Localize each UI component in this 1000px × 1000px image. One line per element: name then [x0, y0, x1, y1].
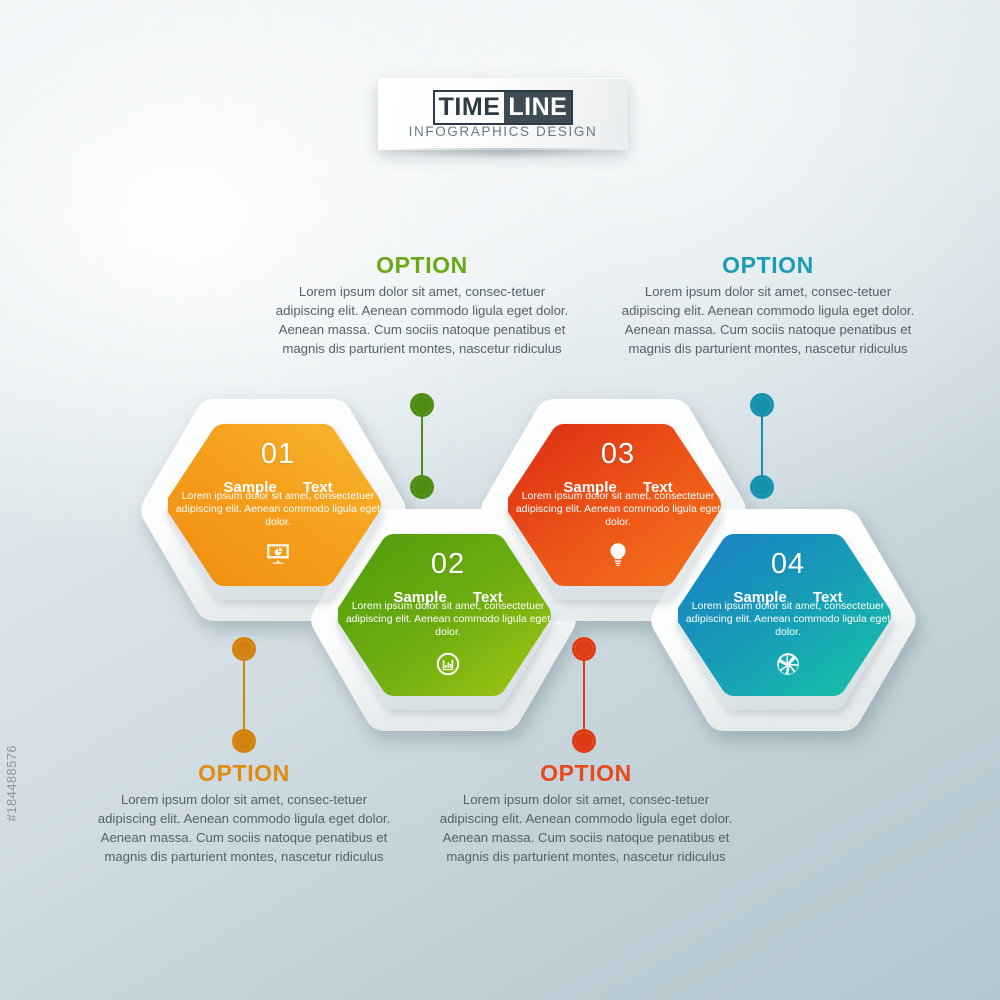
infographic-canvas: TIMELINE INFOGRAPHICS DESIGN: [0, 0, 1000, 1000]
option-label-bottom-left: OPTION: [94, 760, 394, 787]
camera-aperture-icon: [678, 651, 898, 682]
connector-red: [572, 637, 596, 753]
connector-green-dot-top[interactable]: [410, 393, 434, 417]
step-body-04: Lorem ipsum dolor sit amet, consectetuer…: [684, 600, 892, 639]
option-label-top-right: OPTION: [618, 252, 918, 279]
option-block-top-right: OPTION Lorem ipsum dolor sit amet, conse…: [618, 252, 918, 358]
option-block-bottom-left: OPTION Lorem ipsum dolor sit amet, conse…: [94, 760, 394, 866]
connector-red-dot-bottom[interactable]: [572, 729, 596, 753]
option-text-top-left: Lorem ipsum dolor sit amet, consec-tetue…: [272, 282, 572, 358]
timeline-logo: TIMELINE: [378, 90, 628, 125]
connector-orange-dot-bottom[interactable]: [232, 729, 256, 753]
step-number-01: 01: [168, 438, 388, 471]
header-subtitle: INFOGRAPHICS DESIGN: [378, 124, 628, 139]
option-text-top-right: Lorem ipsum dolor sit amet, consec-tetue…: [618, 282, 918, 358]
bar-chart-circle-icon: [338, 651, 558, 682]
connector-orange: [232, 637, 256, 753]
header-ribbon: TIMELINE INFOGRAPHICS DESIGN: [378, 78, 628, 150]
connector-red-dot-top[interactable]: [572, 637, 596, 661]
option-block-top-left: OPTION Lorem ipsum dolor sit amet, conse…: [272, 252, 572, 358]
step-body-01: Lorem ipsum dolor sit amet, consectetuer…: [174, 490, 382, 529]
connector-green: [410, 393, 434, 499]
connector-green-dot-bottom[interactable]: [410, 475, 434, 499]
hexagon-step-04[interactable]: 04 Sample Text Lorem ipsum dolor sit ame…: [678, 534, 898, 696]
step-number-03: 03: [508, 438, 728, 471]
option-block-bottom-right: OPTION Lorem ipsum dolor sit amet, conse…: [436, 760, 736, 866]
connector-orange-dot-top[interactable]: [232, 637, 256, 661]
step-body-02: Lorem ipsum dolor sit amet, consectetuer…: [344, 600, 552, 639]
option-text-bottom-right: Lorem ipsum dolor sit amet, consec-tetue…: [436, 790, 736, 866]
step-body-03: Lorem ipsum dolor sit amet, consectetuer…: [514, 490, 722, 529]
stock-id-watermark: #184488576: [4, 745, 19, 821]
connector-teal-dot-bottom[interactable]: [750, 475, 774, 499]
option-text-bottom-left: Lorem ipsum dolor sit amet, consec-tetue…: [94, 790, 394, 866]
option-label-top-left: OPTION: [272, 252, 572, 279]
logo-line-text: LINE: [504, 90, 573, 125]
connector-teal-dot-top[interactable]: [750, 393, 774, 417]
connector-teal: [750, 393, 774, 499]
logo-time-text: TIME: [433, 90, 505, 125]
option-label-bottom-right: OPTION: [436, 760, 736, 787]
step-number-04: 04: [678, 548, 898, 581]
